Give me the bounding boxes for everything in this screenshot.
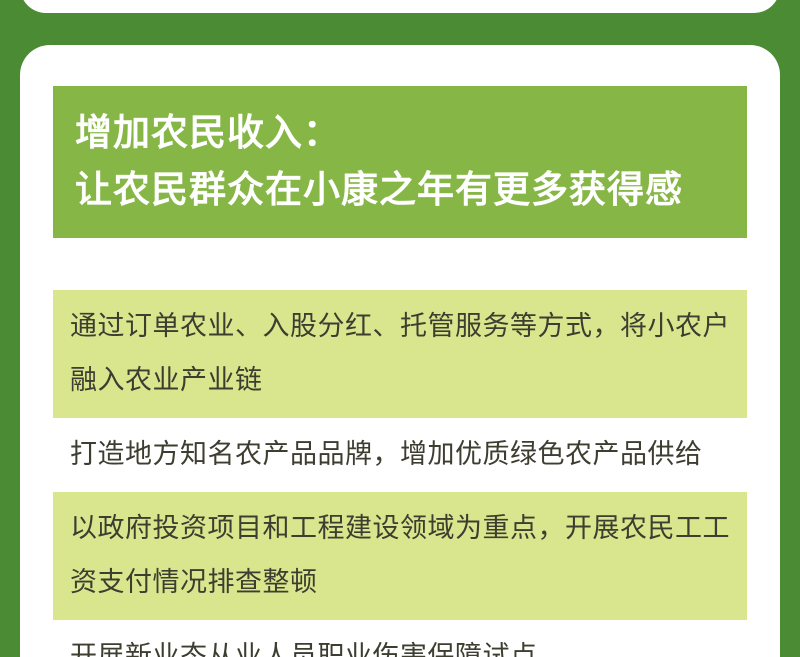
list-item-text: 通过订单农业、入股分红、托管服务等方式，将小农户融入农业产业链 [70,299,731,407]
list-item-text: 打造地方知名农产品品牌，增加优质绿色农产品供给 [70,427,731,481]
list-item: 打造地方知名农产品品牌，增加优质绿色农产品供给 [53,418,747,492]
bullet-list: 通过订单农业、入股分红、托管服务等方式，将小农户融入农业产业链 打造地方知名农产… [53,290,747,657]
list-item-text: 以政府投资项目和工程建设领域为重点，开展农民工工资支付情况排查整顿 [70,501,731,609]
previous-card-tail [20,0,780,13]
list-item: 以政府投资项目和工程建设领域为重点，开展农民工工资支付情况排查整顿 [53,492,747,620]
list-item: 开展新业态从业人员职业伤害保障试点 [53,620,747,657]
section-title-band: 增加农民收入： 让农民群众在小康之年有更多获得感 [53,86,747,238]
section-title-line-1: 增加农民收入： [75,104,725,161]
section-title-line-2: 让农民群众在小康之年有更多获得感 [75,161,725,218]
content-card: 增加农民收入： 让农民群众在小康之年有更多获得感 通过订单农业、入股分红、托管服… [20,45,780,657]
card-inner: 增加农民收入： 让农民群众在小康之年有更多获得感 通过订单农业、入股分红、托管服… [53,45,747,657]
infographic-poster: 增加农民收入： 让农民群众在小康之年有更多获得感 通过订单农业、入股分红、托管服… [0,0,800,657]
list-item-text: 开展新业态从业人员职业伤害保障试点 [70,629,731,657]
list-item: 通过订单农业、入股分红、托管服务等方式，将小农户融入农业产业链 [53,290,747,418]
